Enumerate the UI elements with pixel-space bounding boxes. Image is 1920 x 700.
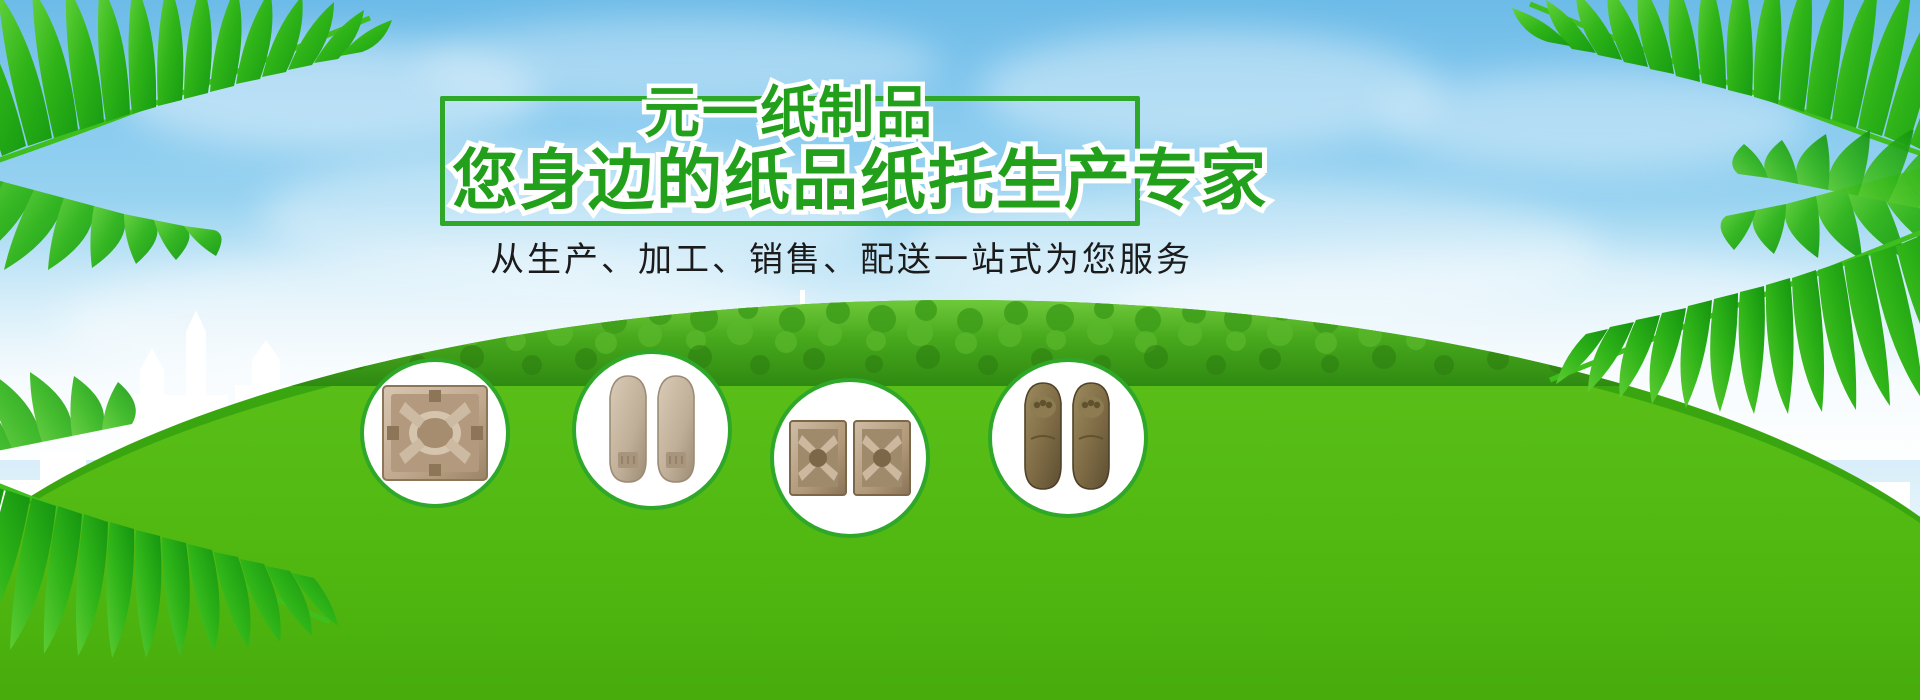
palm-frond-icon xyxy=(0,0,400,270)
subtitle-text: 从生产、加工、销售、配送一站式为您服务 xyxy=(490,240,1193,280)
palm-frond-icon xyxy=(1530,130,1920,450)
product-circle-3[interactable] xyxy=(770,378,930,538)
product-circle-1[interactable] xyxy=(360,358,510,508)
promo-banner: 元一纸制品 您身边的纸品纸托生产专家 从生产、加工、销售、配送一站式为您服务 xyxy=(0,0,1920,700)
dark-pulp-insoles-icon xyxy=(1015,379,1121,497)
product-circle-4[interactable] xyxy=(988,358,1148,518)
pulp-tray-pair-icon xyxy=(788,413,912,503)
palm-frond-icon xyxy=(0,370,340,670)
headline-line-1: 元一纸制品 xyxy=(644,84,1004,144)
paper-pulp-tray-icon xyxy=(379,380,491,486)
pulp-shoe-insoles-icon xyxy=(598,370,706,490)
headline-line-2: 您身边的纸品纸托生产专家 xyxy=(452,145,1268,217)
product-circle-2[interactable] xyxy=(572,350,732,510)
